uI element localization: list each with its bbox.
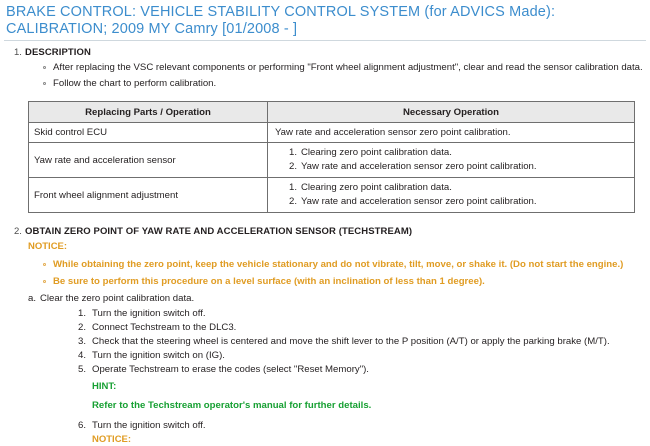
table-row: Yaw rate and acceleration sensor 1.Clear… <box>29 143 635 178</box>
notice-bullet-list: While obtaining the zero point, keep the… <box>0 258 650 289</box>
operation-list: 1.Clearing zero point calibration data. … <box>273 181 630 209</box>
calibration-table: Replacing Parts / Operation Necessary Op… <box>28 101 635 213</box>
table-row: Skid control ECU Yaw rate and accelerati… <box>29 123 635 143</box>
section-2-number: 2. <box>14 226 25 237</box>
list-item: Follow the chart to perform calibration. <box>0 77 650 91</box>
section-description: 1. DESCRIPTION After replacing the VSC r… <box>0 47 650 90</box>
operation-text: Yaw rate and acceleration sensor zero po… <box>301 161 537 172</box>
cell-necessary-operation: 1.Clearing zero point calibration data. … <box>268 178 635 213</box>
step-text: Operate Techstream to erase the codes (s… <box>92 364 369 375</box>
list-item: After replacing the VSC relevant compone… <box>0 61 650 75</box>
step-marker: 2. <box>78 321 86 335</box>
column-header-necessary-operation: Necessary Operation <box>268 102 635 123</box>
numbered-step-list: 1.Turn the ignition switch off. 2.Connec… <box>0 307 650 378</box>
operation-text: Clearing zero point calibration data. <box>301 182 452 193</box>
step-text: Turn the ignition switch on (IG). <box>92 350 225 361</box>
operation-number: 2. <box>289 195 297 209</box>
section-1-heading: 1. DESCRIPTION <box>0 47 650 58</box>
list-item: 6.Turn the ignition switch off. <box>0 419 650 433</box>
step-a: a. Clear the zero point calibration data… <box>0 292 650 306</box>
step-text: Turn the ignition switch off. <box>92 308 206 319</box>
operation-text: Yaw rate and acceleration sensor zero po… <box>273 127 630 138</box>
list-item: Be sure to perform this procedure on a l… <box>0 275 650 290</box>
document-page: BRAKE CONTROL: VEHICLE STABILITY CONTROL… <box>0 0 650 414</box>
numbered-step-list-continued: 6.Turn the ignition switch off. <box>0 419 650 433</box>
hint-label: HINT: <box>0 380 650 393</box>
cell-replacing-part: Front wheel alignment adjustment <box>29 178 268 213</box>
step-marker: 3. <box>78 335 86 349</box>
operation-text: Clearing zero point calibration data. <box>301 147 452 158</box>
list-item: 4.Turn the ignition switch on (IG). <box>0 349 650 363</box>
title-divider <box>4 40 646 41</box>
notice-label-secondary: NOTICE: <box>0 433 650 446</box>
operation-number: 1. <box>289 181 297 195</box>
list-item: While obtaining the zero point, keep the… <box>0 258 650 273</box>
operation-text: Yaw rate and acceleration sensor zero po… <box>301 196 537 207</box>
description-bullet-list: After replacing the VSC relevant compone… <box>0 61 650 90</box>
section-2-heading: 2. OBTAIN ZERO POINT OF YAW RATE AND ACC… <box>0 226 650 237</box>
step-text: Connect Techstream to the DLC3. <box>92 322 236 333</box>
operation-list: 1.Clearing zero point calibration data. … <box>273 146 630 174</box>
section-2-title: OBTAIN ZERO POINT OF YAW RATE AND ACCELE… <box>25 226 412 237</box>
hint-text: Refer to the Techstream operator's manua… <box>0 399 650 412</box>
table-row: Front wheel alignment adjustment 1.Clear… <box>29 178 635 213</box>
section-1-title: DESCRIPTION <box>25 47 91 58</box>
list-item: 1.Turn the ignition switch off. <box>0 307 650 321</box>
cell-necessary-operation: Yaw rate and acceleration sensor zero po… <box>268 123 635 143</box>
list-item: 1.Clearing zero point calibration data. <box>273 181 630 195</box>
operation-number: 2. <box>289 160 297 174</box>
list-item: 2.Yaw rate and acceleration sensor zero … <box>273 195 630 209</box>
step-marker: 6. <box>78 419 86 433</box>
step-text: Check that the steering wheel is centere… <box>92 336 610 347</box>
cell-necessary-operation: 1.Clearing zero point calibration data. … <box>268 143 635 178</box>
step-marker: 4. <box>78 349 86 363</box>
operation-number: 1. <box>289 146 297 160</box>
list-item: 5.Operate Techstream to erase the codes … <box>0 363 650 377</box>
list-item: 2.Yaw rate and acceleration sensor zero … <box>273 160 630 174</box>
step-a-marker: a. <box>28 292 36 306</box>
page-title: BRAKE CONTROL: VEHICLE STABILITY CONTROL… <box>0 0 650 39</box>
column-header-replacing-parts: Replacing Parts / Operation <box>29 102 268 123</box>
table-header-row: Replacing Parts / Operation Necessary Op… <box>29 102 635 123</box>
list-item: 2.Connect Techstream to the DLC3. <box>0 321 650 335</box>
section-obtain-zero-point: 2. OBTAIN ZERO POINT OF YAW RATE AND ACC… <box>0 226 650 446</box>
list-item: 1.Clearing zero point calibration data. <box>273 146 630 160</box>
step-text: Turn the ignition switch off. <box>92 420 206 431</box>
cell-replacing-part: Yaw rate and acceleration sensor <box>29 143 268 178</box>
notice-label: NOTICE: <box>0 240 650 253</box>
step-a-text: Clear the zero point calibration data. <box>40 293 194 304</box>
step-marker: 5. <box>78 363 86 377</box>
cell-replacing-part: Skid control ECU <box>29 123 268 143</box>
list-item: 3.Check that the steering wheel is cente… <box>0 335 650 349</box>
section-1-number: 1. <box>14 47 25 58</box>
step-marker: 1. <box>78 307 86 321</box>
